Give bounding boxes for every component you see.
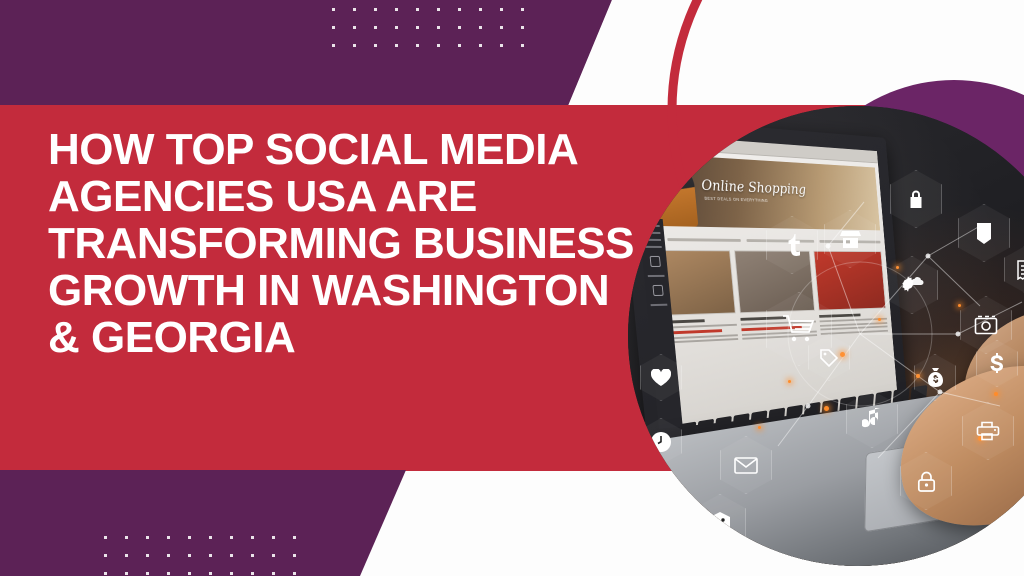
spark-particle <box>758 426 761 429</box>
dot <box>104 554 107 557</box>
rail-line <box>651 304 668 306</box>
dot <box>353 44 356 47</box>
shop-hero-title: Online Shopping <box>701 176 807 198</box>
dot <box>125 536 128 539</box>
dot <box>167 554 170 557</box>
dot <box>272 536 275 539</box>
dot <box>188 554 191 557</box>
dot-grid-top <box>332 8 524 47</box>
dot <box>293 536 296 539</box>
dot <box>146 536 149 539</box>
dot <box>167 536 170 539</box>
dot <box>374 26 377 29</box>
dot <box>395 44 398 47</box>
dot <box>521 44 524 47</box>
dot <box>437 8 440 11</box>
spark-particle <box>788 380 791 383</box>
dot <box>230 572 233 575</box>
banner-canvas: Online Shopping BEST DEALS ON EVERYTHING <box>0 0 1024 576</box>
dot <box>293 572 296 575</box>
dot <box>500 8 503 11</box>
dot <box>500 26 503 29</box>
dot <box>479 44 482 47</box>
dot <box>500 44 503 47</box>
dot <box>458 26 461 29</box>
rail-box <box>652 285 663 296</box>
dot <box>521 26 524 29</box>
dot <box>416 8 419 11</box>
dot <box>353 8 356 11</box>
dot <box>332 44 335 47</box>
hero-model-image <box>641 159 698 227</box>
hero-photo-circle: Online Shopping BEST DEALS ON EVERYTHING <box>628 106 1024 566</box>
dot <box>374 8 377 11</box>
dot <box>395 26 398 29</box>
dot <box>437 26 440 29</box>
purple-block-top-left <box>0 0 620 106</box>
dot <box>167 572 170 575</box>
dot <box>458 8 461 11</box>
dot <box>104 536 107 539</box>
browser-dot <box>648 139 652 143</box>
dot <box>104 572 107 575</box>
rail-line <box>648 275 665 277</box>
dot <box>230 536 233 539</box>
spark-particle <box>824 406 829 411</box>
spark-particle <box>958 304 961 307</box>
photo-background: Online Shopping BEST DEALS ON EVERYTHING <box>628 106 1024 566</box>
spark-particle <box>878 318 881 321</box>
dot <box>230 554 233 557</box>
dot <box>437 44 440 47</box>
dot-grid-bottom <box>104 536 296 575</box>
page-title: How Top Social Media Agencies USA Are Tr… <box>48 126 648 361</box>
dot <box>293 554 296 557</box>
rail-box <box>649 256 660 267</box>
dot <box>209 554 212 557</box>
dot <box>458 44 461 47</box>
dot <box>188 572 191 575</box>
dot <box>251 554 254 557</box>
dot <box>251 536 254 539</box>
receipt-icon <box>1004 246 1024 293</box>
dot <box>332 8 335 11</box>
dot <box>353 26 356 29</box>
dot <box>209 572 212 575</box>
shop-hero-subtitle: BEST DEALS ON EVERYTHING <box>704 196 768 203</box>
dot <box>521 8 524 11</box>
dot <box>125 554 128 557</box>
dot <box>209 536 212 539</box>
dot <box>125 572 128 575</box>
dot <box>272 572 275 575</box>
dot <box>479 8 482 11</box>
dot <box>146 572 149 575</box>
dot <box>479 26 482 29</box>
spark-particle <box>994 392 998 396</box>
dot <box>272 554 275 557</box>
dot <box>374 44 377 47</box>
dot <box>146 554 149 557</box>
dot <box>395 8 398 11</box>
dot <box>332 26 335 29</box>
dot <box>416 44 419 47</box>
dot <box>251 572 254 575</box>
dot <box>188 536 191 539</box>
category-line <box>667 238 741 242</box>
dot <box>416 26 419 29</box>
lock-icon <box>890 170 942 228</box>
document-icon <box>958 204 1010 262</box>
